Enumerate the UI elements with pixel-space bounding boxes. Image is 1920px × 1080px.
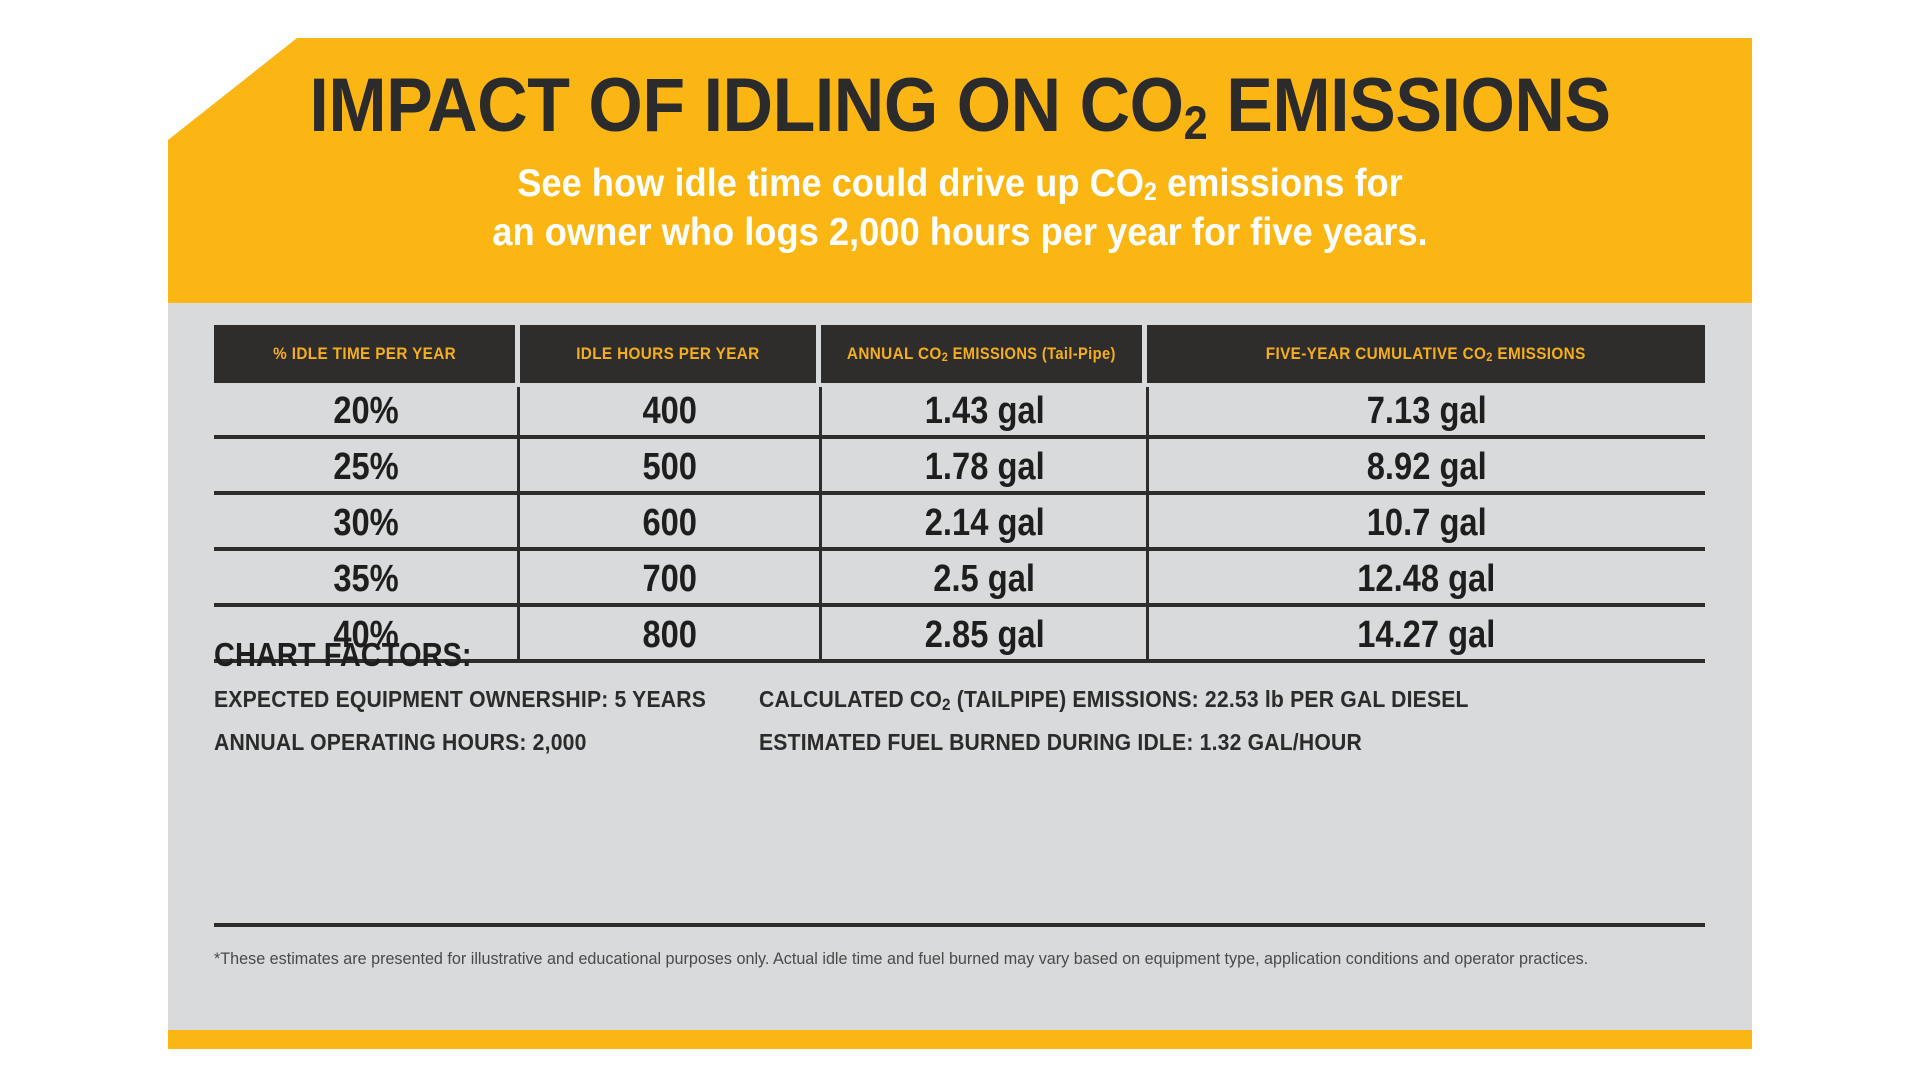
cell-idle-hours: 700 xyxy=(519,551,821,607)
cell-idle-percent: 20% xyxy=(214,383,519,439)
table-row: 25% 500 1.78 gal 8.92 gal xyxy=(214,439,1705,495)
factor-expected-ownership-pre: EXPECTED EQUIPMENT OWNERSHIP: 5 YEARS xyxy=(214,686,706,712)
cell-idle-percent-value: 25% xyxy=(334,446,399,489)
factor-calculated-emissions: CALCULATED CO2 (TAILPIPE) EMISSIONS: 22.… xyxy=(759,686,1629,713)
subtitle-line-1-pre: See how idle time could drive up CO xyxy=(517,162,1144,205)
header-banner-content: IMPACT OF IDLING ON CO2 EMISSIONS See ho… xyxy=(168,38,1752,257)
cell-idle-hours: 600 xyxy=(519,495,821,551)
cell-idle-percent: 30% xyxy=(214,495,519,551)
emissions-table: % IDLE TIME PER YEAR IDLE HOURS PER YEAR… xyxy=(214,325,1705,663)
cell-annual-emissions: 2.5 gal xyxy=(821,551,1148,607)
cell-idle-percent: 25% xyxy=(214,439,519,495)
cell-idle-hours: 500 xyxy=(519,439,821,495)
factor-estimated-fuel-burned-pre: ESTIMATED FUEL BURNED DURING IDLE: 1.32 … xyxy=(759,729,1362,755)
column-header-idle-hours-pre: IDLE HOURS PER YEAR xyxy=(576,344,759,363)
subtitle-line-1-post: emissions for xyxy=(1157,162,1403,205)
table-body: 20% 400 1.43 gal 7.13 gal 25% 500 1.78 g… xyxy=(214,383,1705,663)
cell-cumulative-emissions: 10.7 gal xyxy=(1148,495,1705,551)
cell-cumulative-emissions-value: 10.7 gal xyxy=(1367,502,1487,545)
subtitle-subscript: 2 xyxy=(1144,178,1157,206)
cell-cumulative-emissions: 7.13 gal xyxy=(1148,383,1705,439)
chart-factors-section: CHART FACTORS: EXPECTED EQUIPMENT OWNERS… xyxy=(214,636,1705,756)
page-title: IMPACT OF IDLING ON CO2 EMISSIONS xyxy=(231,38,1688,149)
column-header-annual-emissions-pre: ANNUAL CO xyxy=(847,344,942,363)
cell-idle-hours-value: 500 xyxy=(643,446,698,489)
cell-annual-emissions-value: 2.14 gal xyxy=(925,502,1045,545)
chart-factors-title: CHART FACTORS: xyxy=(214,636,472,674)
table-row: 30% 600 2.14 gal 10.7 gal xyxy=(214,495,1705,551)
factor-expected-ownership: EXPECTED EQUIPMENT OWNERSHIP: 5 YEARS xyxy=(214,686,715,713)
column-header-idle-hours: IDLE HOURS PER YEAR xyxy=(520,325,816,383)
factor-estimated-fuel-burned: ESTIMATED FUEL BURNED DURING IDLE: 1.32 … xyxy=(759,729,1629,756)
cell-idle-percent-value: 35% xyxy=(334,558,399,601)
column-header-annual-emissions-post: EMISSIONS (Tail-Pipe) xyxy=(948,345,1116,363)
table-row: 35% 700 2.5 gal 12.48 gal xyxy=(214,551,1705,607)
footnote-text: *These estimates are presented for illus… xyxy=(214,948,1630,970)
cell-cumulative-emissions: 12.48 gal xyxy=(1148,551,1705,607)
cell-cumulative-emissions-value: 12.48 gal xyxy=(1357,558,1495,601)
chart-factors-grid: EXPECTED EQUIPMENT OWNERSHIP: 5 YEARS AN… xyxy=(214,686,1705,756)
cell-idle-percent: 35% xyxy=(214,551,519,607)
subtitle-line-2: an owner who logs 2,000 hours per year f… xyxy=(223,208,1696,257)
cell-annual-emissions: 2.14 gal xyxy=(821,495,1148,551)
cell-annual-emissions: 1.43 gal xyxy=(821,383,1148,439)
column-header-annual-emissions-sub: 2 xyxy=(942,350,948,364)
page-title-pre: IMPACT OF IDLING ON CO xyxy=(309,63,1183,148)
factor-annual-operating-hours-pre: ANNUAL OPERATING HOURS: 2,000 xyxy=(214,729,587,755)
page-title-subscript: 2 xyxy=(1184,96,1208,149)
cell-idle-hours: 400 xyxy=(519,383,821,439)
column-header-cumulative-emissions: FIVE-YEAR CUMULATIVE CO2 EMISSIONS xyxy=(1147,325,1705,383)
cell-cumulative-emissions: 8.92 gal xyxy=(1148,439,1705,495)
table-header-row: % IDLE TIME PER YEAR IDLE HOURS PER YEAR… xyxy=(214,325,1705,383)
cell-idle-percent-value: 30% xyxy=(334,502,399,545)
factor-calculated-emissions-sub: 2 xyxy=(942,695,951,714)
cell-annual-emissions-value: 1.43 gal xyxy=(925,390,1045,433)
chart-factors-column-left: EXPECTED EQUIPMENT OWNERSHIP: 5 YEARS AN… xyxy=(214,686,759,756)
cell-cumulative-emissions-value: 8.92 gal xyxy=(1367,446,1487,489)
column-header-idle-percent: % IDLE TIME PER YEAR xyxy=(214,325,515,383)
cell-idle-percent-value: 20% xyxy=(334,390,399,433)
table-row: 20% 400 1.43 gal 7.13 gal xyxy=(214,383,1705,439)
cell-annual-emissions-value: 1.78 gal xyxy=(925,446,1045,489)
page-title-post: EMISSIONS xyxy=(1207,63,1610,148)
bottom-accent-bar xyxy=(168,1030,1752,1049)
cell-cumulative-emissions-value: 7.13 gal xyxy=(1367,390,1487,433)
cell-annual-emissions: 1.78 gal xyxy=(821,439,1148,495)
factor-calculated-emissions-pre: CALCULATED CO xyxy=(759,686,942,712)
cell-idle-hours-value: 600 xyxy=(643,502,698,545)
cell-annual-emissions-value: 2.5 gal xyxy=(934,558,1036,601)
subtitle-line-1: See how idle time could drive up CO2 emi… xyxy=(223,149,1696,208)
column-header-cumulative-emissions-post: EMISSIONS xyxy=(1493,344,1586,363)
chart-factors-column-right: CALCULATED CO2 (TAILPIPE) EMISSIONS: 22.… xyxy=(759,686,1705,756)
column-header-cumulative-emissions-sub: 2 xyxy=(1487,350,1493,364)
header-banner: IMPACT OF IDLING ON CO2 EMISSIONS See ho… xyxy=(168,38,1752,303)
column-header-idle-percent-pre: % IDLE TIME PER YEAR xyxy=(273,344,456,363)
infographic-root: IMPACT OF IDLING ON CO2 EMISSIONS See ho… xyxy=(0,0,1920,1080)
column-header-annual-emissions: ANNUAL CO2 EMISSIONS (Tail-Pipe) xyxy=(821,325,1142,383)
content-panel: % IDLE TIME PER YEAR IDLE HOURS PER YEAR… xyxy=(168,303,1752,1030)
footnote-divider xyxy=(214,923,1705,927)
cell-idle-hours-value: 700 xyxy=(643,558,698,601)
cell-idle-hours-value: 400 xyxy=(643,390,698,433)
factor-calculated-emissions-post: (TAILPIPE) EMISSIONS: 22.53 lb PER GAL D… xyxy=(951,686,1469,712)
factor-annual-operating-hours: ANNUAL OPERATING HOURS: 2,000 xyxy=(214,729,715,756)
column-header-cumulative-emissions-pre: FIVE-YEAR CUMULATIVE CO xyxy=(1266,344,1487,363)
